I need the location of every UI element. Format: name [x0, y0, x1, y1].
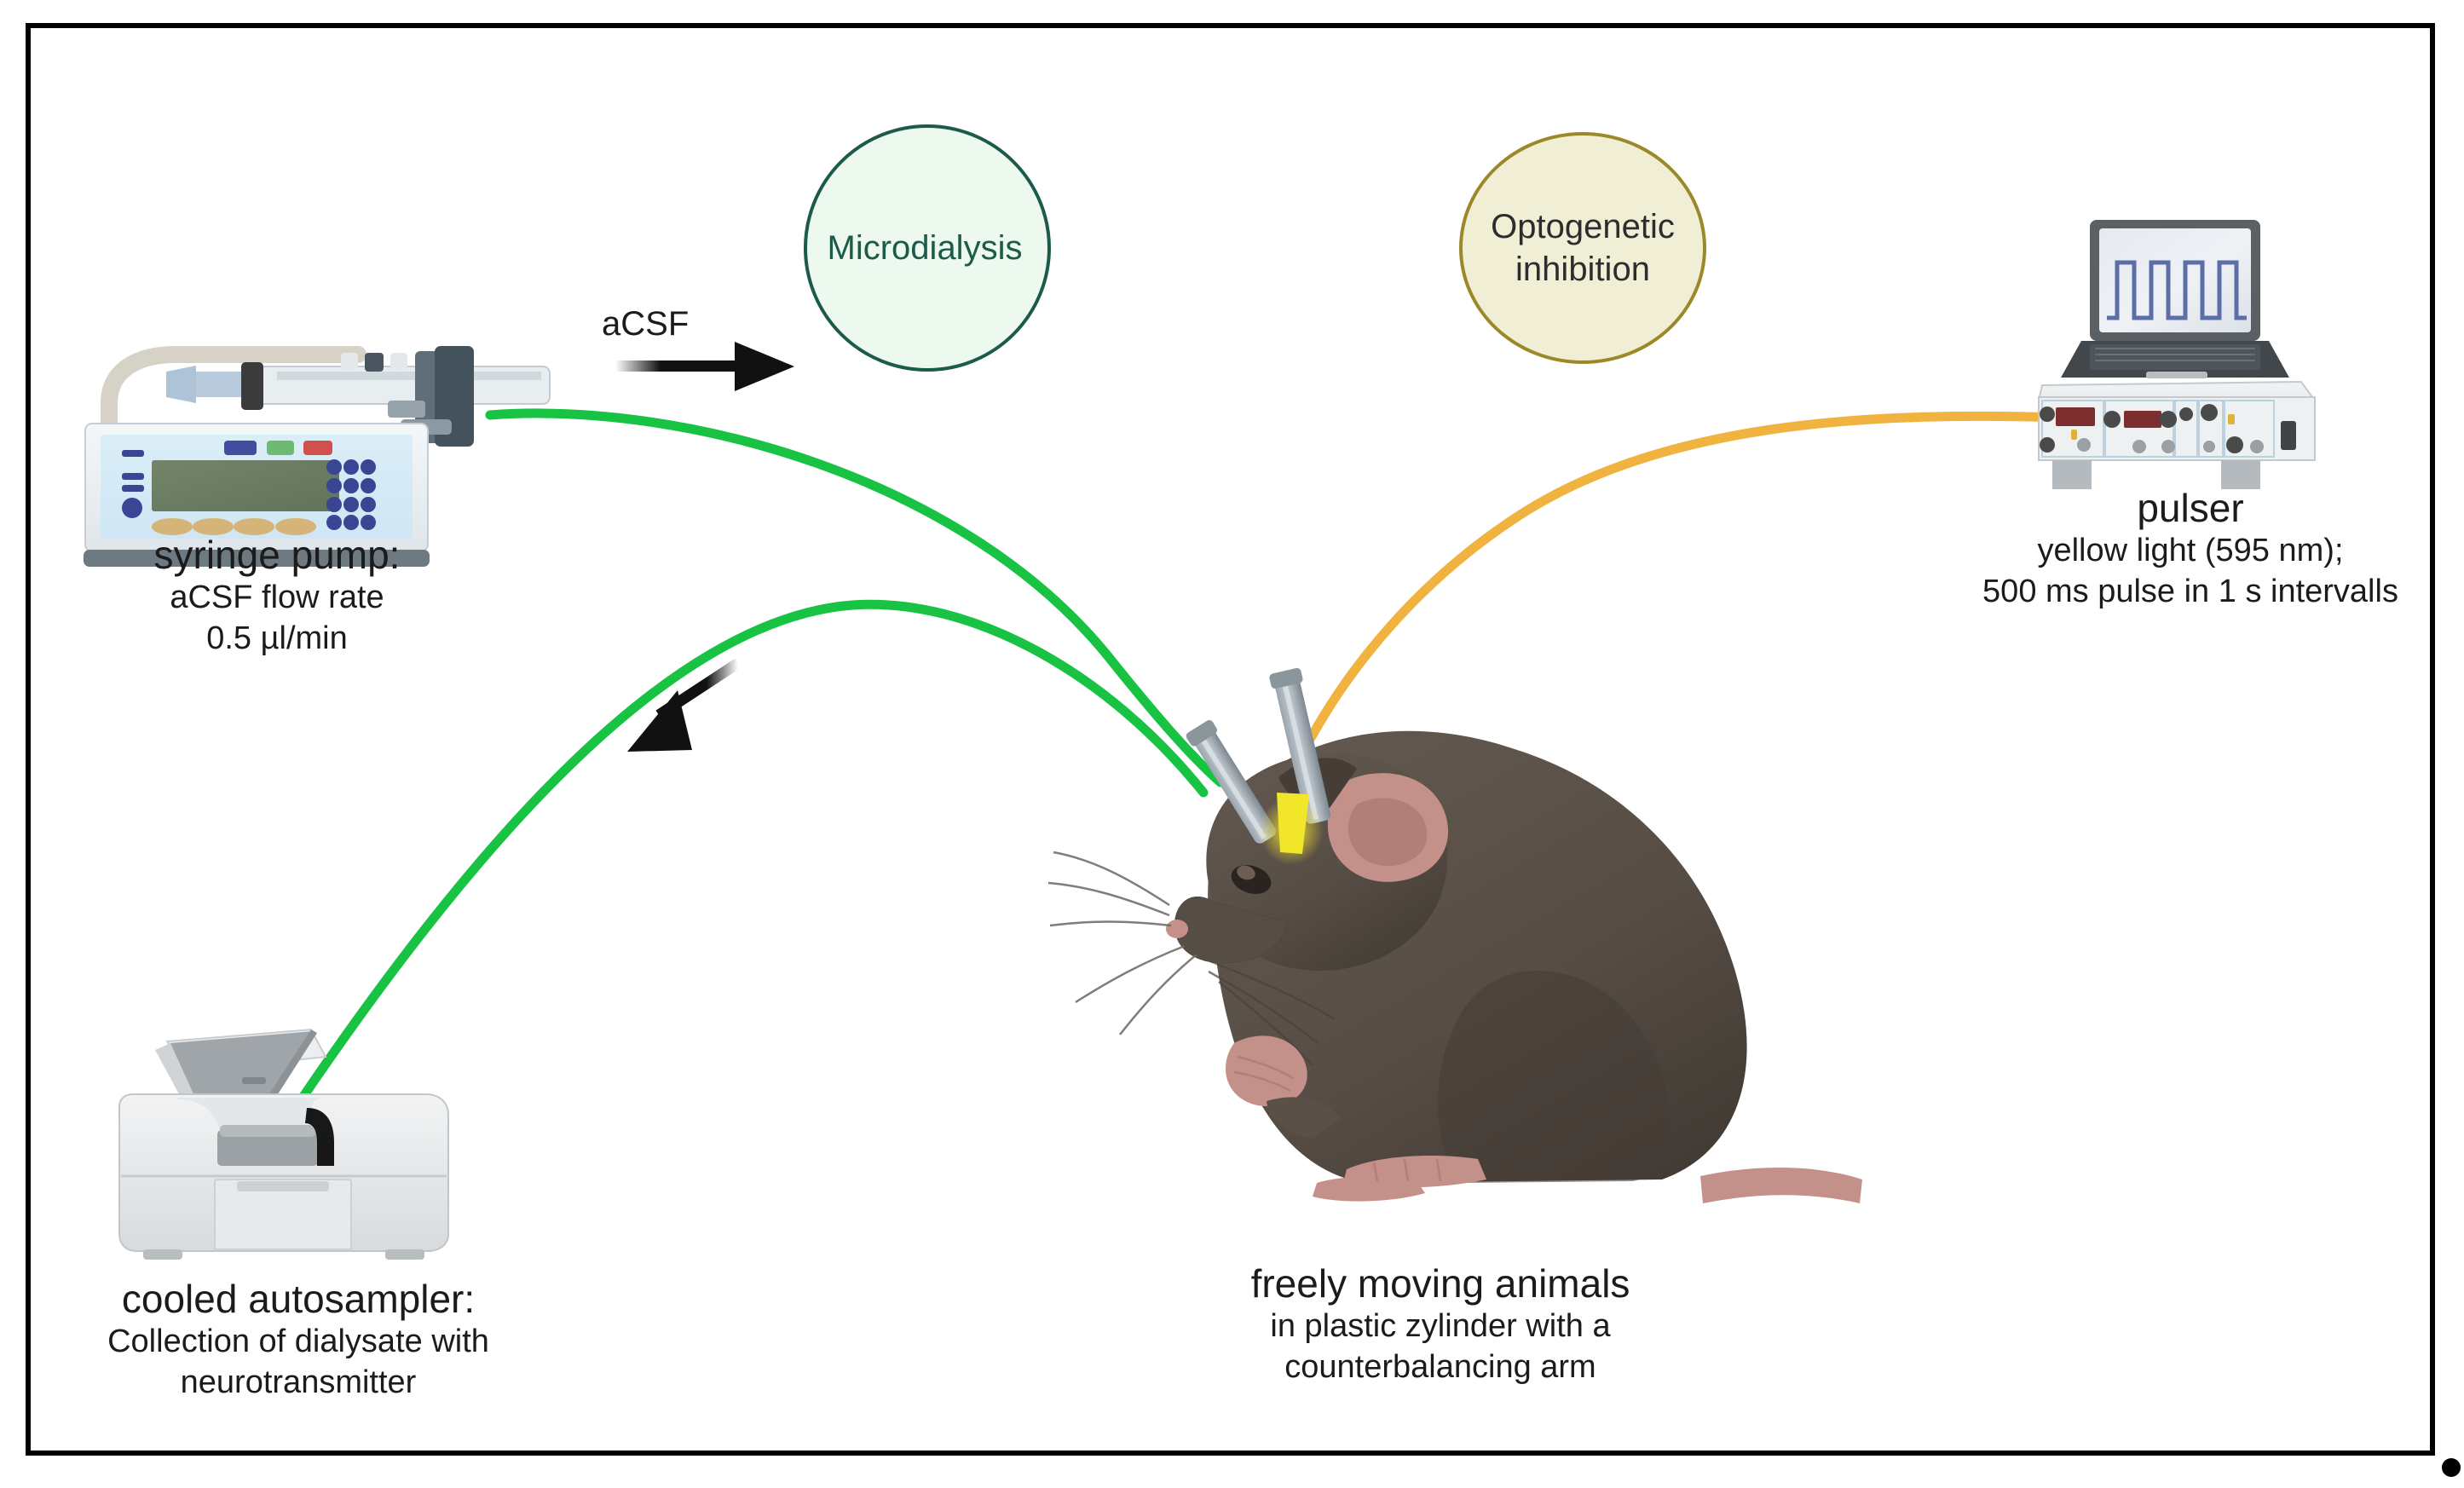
autosampler-sub-1: Collection of dialysate with [43, 1322, 554, 1363]
syringe-pump-label: syringe pump: aCSF flow rate 0.5 µl/min [64, 533, 490, 660]
trailing-dot [2442, 1458, 2461, 1477]
animals-sub-1: in plastic zylinder with a [1142, 1306, 1739, 1347]
autosampler-label: cooled autosampler: Collection of dialys… [43, 1277, 554, 1404]
badge-optogenetic[interactable]: Optogenetic inhibition [1459, 132, 1706, 364]
badge-microdialysis[interactable]: Microdialysis [804, 124, 1051, 372]
syringe-pump-sub-1: aCSF flow rate [64, 578, 490, 619]
figure-canvas: Microdialysis Optogenetic inhibition aCS… [0, 0, 2464, 1488]
pulser-sub-2: 500 ms pulse in 1 s intervalls [1918, 572, 2463, 613]
pulser-title: pulser [1918, 486, 2463, 531]
pulser-sub-1: yellow light (595 nm); [1918, 531, 2463, 572]
figure-frame [26, 23, 2435, 1456]
syringe-pump-title: syringe pump: [64, 533, 490, 578]
animals-sub-2: counterbalancing arm [1142, 1347, 1739, 1388]
autosampler-title: cooled autosampler: [43, 1277, 554, 1322]
badge-microdialysis-label: Microdialysis [828, 228, 1023, 268]
pulser-label: pulser yellow light (595 nm); 500 ms pul… [1918, 486, 2463, 613]
autosampler-sub-2: neurotransmitter [43, 1363, 554, 1404]
syringe-pump-sub-2: 0.5 µl/min [64, 619, 490, 660]
freely-moving-animals-label: freely moving animals in plastic zylinde… [1142, 1261, 1739, 1388]
animals-title: freely moving animals [1142, 1261, 1739, 1306]
acsf-flow-label: aCSF [602, 305, 689, 343]
badge-optogenetic-label: Optogenetic inhibition [1491, 205, 1675, 291]
